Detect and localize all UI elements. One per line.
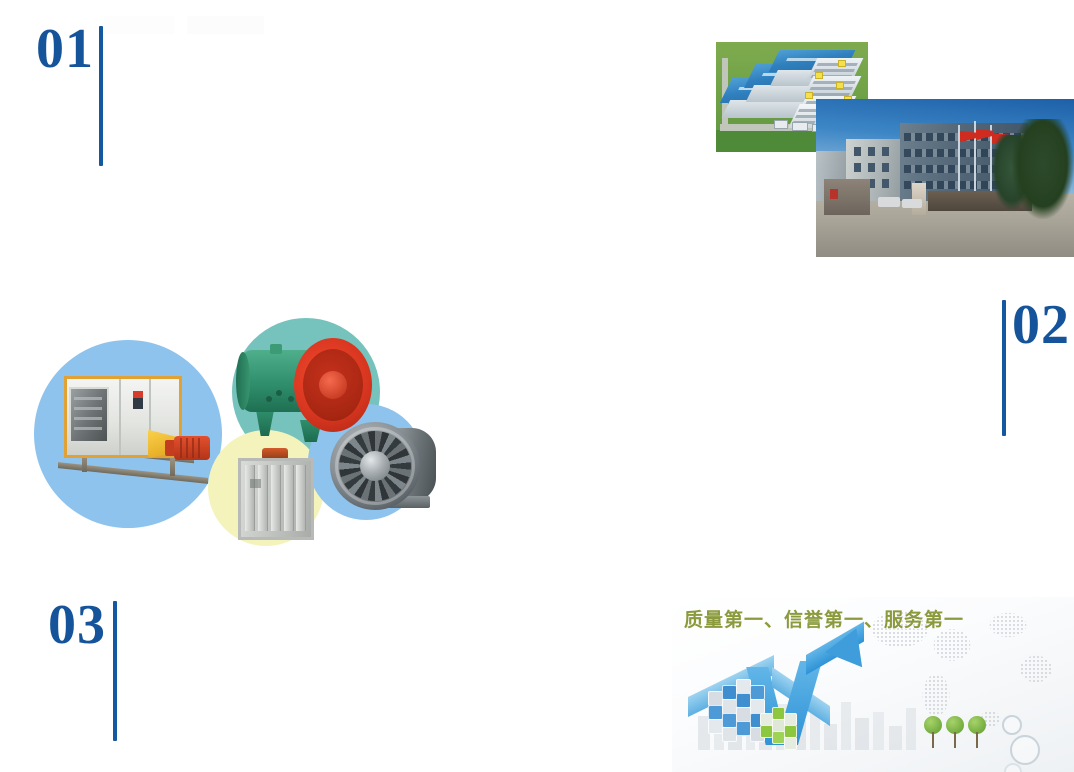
section-rule-02 [1002, 300, 1006, 436]
green-rubik-cube [760, 703, 802, 745]
tree [946, 716, 964, 750]
cubelet [722, 685, 737, 700]
damper-blade [258, 465, 268, 531]
window [882, 179, 889, 188]
flagpole [958, 125, 960, 195]
factory-image-group [716, 42, 1074, 257]
tree [924, 716, 942, 750]
flagpole [974, 121, 976, 195]
bolt [266, 396, 272, 402]
section-marker-02: 02 [1002, 298, 1070, 436]
tree [1012, 119, 1074, 219]
cubelet [784, 737, 797, 750]
section-marker-01: 01 [36, 22, 103, 166]
window [854, 147, 861, 156]
cubelet [722, 727, 737, 742]
motor-fin [192, 438, 194, 458]
casing-endcap [236, 352, 250, 410]
floor-line [812, 81, 856, 84]
cubelet [736, 679, 751, 694]
cubelet [736, 721, 751, 736]
damper-blade [271, 465, 281, 531]
faint-top-artifact [104, 16, 264, 34]
damper-blade [284, 465, 294, 531]
bolt [288, 396, 294, 402]
slogan-banner-image: 质量第一、信誉第一、服务第一 [672, 597, 1074, 772]
control-box [133, 391, 143, 409]
window [882, 147, 889, 156]
impeller-slat [74, 397, 102, 400]
cubelet [722, 713, 737, 728]
window [868, 163, 875, 172]
rail-leg [170, 458, 175, 476]
cubelet [750, 685, 765, 700]
mounting-foot [256, 410, 274, 436]
motor-fin [198, 438, 200, 458]
truck [792, 122, 808, 131]
window [854, 163, 861, 172]
section-number-03: 03 [48, 598, 106, 652]
damper-blade [296, 465, 306, 531]
impeller-slat [74, 427, 102, 430]
section-rule-01 [99, 26, 103, 166]
red-impeller-housing [294, 338, 372, 432]
parked-car [878, 197, 900, 207]
parked-car [902, 199, 922, 208]
tree-group [924, 714, 990, 750]
truck [774, 120, 788, 129]
tree [968, 716, 986, 750]
marker-dot [805, 92, 813, 99]
panel-seam [119, 379, 121, 455]
marker-dot [815, 72, 823, 79]
gatehouse [824, 179, 870, 215]
electric-motor [174, 436, 210, 460]
impeller-hub [319, 371, 347, 399]
gatehouse-sign [830, 189, 838, 199]
cubelet [708, 691, 723, 706]
slogan-text: 质量第一、信誉第一、服务第一 [684, 605, 964, 632]
window [882, 163, 889, 172]
cubelet [736, 693, 751, 708]
cubelet [736, 707, 751, 722]
floor-line [809, 87, 853, 90]
fan-hub [360, 451, 390, 481]
damper-frame [238, 458, 314, 540]
marker-dot [838, 60, 846, 67]
bolt [276, 390, 282, 396]
cubelet [708, 719, 723, 734]
section-number-01: 01 [36, 22, 94, 76]
inlet-opening [69, 387, 109, 443]
base-rail [58, 462, 208, 484]
section-rule-03 [113, 601, 117, 741]
bubble [1010, 735, 1040, 765]
motor-fin [180, 438, 182, 458]
tree-trunk [932, 732, 934, 748]
damper-blade [245, 465, 255, 531]
marker-dot [836, 82, 844, 89]
cabinet-centrifugal-fan-image [52, 366, 220, 496]
section-number-02: 02 [1012, 298, 1070, 352]
bubble [1002, 715, 1022, 735]
fire-damper-image [238, 448, 312, 536]
cubelet [708, 705, 723, 720]
cubelet [722, 699, 737, 714]
section-marker-03: 03 [48, 598, 117, 741]
window [868, 147, 875, 156]
lifting-lug [270, 344, 282, 354]
fan-product-collage [34, 318, 426, 558]
motor-fin [186, 438, 188, 458]
impeller-slat [74, 407, 102, 410]
page-canvas: 01 [0, 0, 1074, 772]
office-building-photo-image [816, 99, 1074, 257]
damper-label [250, 479, 261, 488]
mixed-flow-fan-image [330, 422, 442, 512]
tree-trunk [954, 732, 956, 748]
tree-trunk [976, 732, 978, 748]
impeller-slat [74, 417, 102, 420]
